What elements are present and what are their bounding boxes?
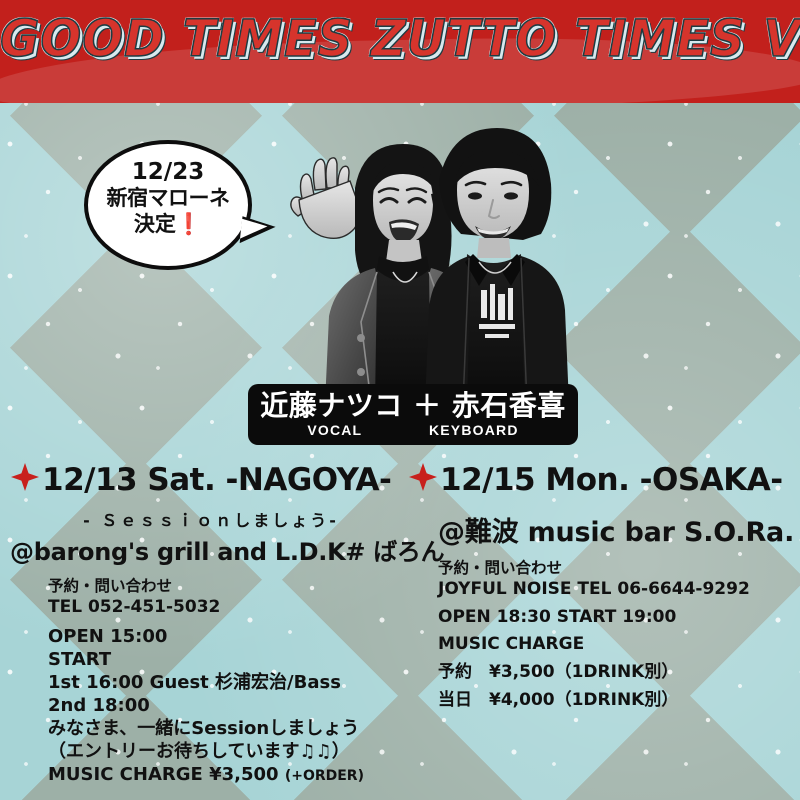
announcement-speech-bubble: 12/23 新宿マローネ 決定❗	[84, 140, 252, 270]
bubble-status-text: 決定	[134, 212, 176, 236]
poster-canvas: GOOD TIMES ZUTTO TIMES VOL.14	[0, 0, 800, 800]
artist-nameplate: 近藤ナツコ ＋ 赤石香喜 VOCAL KEYBOARD	[248, 384, 578, 445]
spacer	[408, 549, 798, 559]
nagoya-session-label: - Ｓｅｓｓｉｏｎしましょう-	[10, 507, 412, 531]
osaka-headline-text: 12/15 Mon. -OSAKA-	[440, 465, 783, 496]
nagoya-charge-note: (+ORDER)	[285, 768, 364, 784]
osaka-tel: JOYFUL NOISE TEL 06-6644-9292	[438, 579, 798, 601]
nagoya-set-1: 1st 16:00 Guest 杉浦宏治/Bass	[48, 671, 412, 694]
role-keyboard: KEYBOARD	[429, 422, 519, 438]
nagoya-headline-text: 12/13 Sat. -NAGOYA-	[42, 465, 391, 496]
bubble-date: 12/23	[88, 158, 248, 186]
header-banner: GOOD TIMES ZUTTO TIMES VOL.14	[0, 0, 800, 103]
nagoya-headline: 12/13 Sat. -NAGOYA-	[10, 462, 412, 498]
nagoya-note-1: みなさま、一緒にSessionしましょう	[48, 717, 412, 740]
nagoya-open: OPEN 15:00	[48, 625, 412, 648]
osaka-venue: @難波 music bar S.O.Ra.	[408, 510, 798, 549]
osaka-charge-label: MUSIC CHARGE	[438, 634, 798, 656]
osaka-advance-price: 予約 ¥3,500（1DRINK別）	[438, 662, 798, 684]
sparkle-icon	[10, 462, 40, 498]
nagoya-note-2: （エントリーお待ちしています♫♫）	[48, 740, 412, 763]
show-block-osaka: 12/15 Mon. -OSAKA- @難波 music bar S.O.Ra.…	[408, 462, 798, 712]
nagoya-tel: TEL 052-451-5032	[48, 597, 412, 619]
osaka-details: 予約・問い合わせ JOYFUL NOISE TEL 06-6644-9292 O…	[408, 559, 798, 712]
show-block-nagoya: 12/13 Sat. -NAGOYA- - Ｓｅｓｓｉｏｎしましょう- @bar…	[10, 462, 412, 786]
nagoya-set-2: 2nd 18:00	[48, 694, 412, 717]
osaka-headline: 12/15 Mon. -OSAKA-	[408, 462, 798, 498]
nagoya-venue: @barong's grill and L.D.K# ばろん	[10, 532, 412, 567]
artist-names: 近藤ナツコ ＋ 赤石香喜	[256, 390, 570, 421]
artist-photo	[243, 104, 583, 404]
exclamation-icon: ❗	[176, 212, 202, 236]
nagoya-contact-label: 予約・問い合わせ	[48, 577, 412, 597]
sparkle-icon	[408, 462, 438, 498]
bubble-tail-fill	[240, 219, 268, 242]
nagoya-charge-text: MUSIC CHARGE ¥3,500	[48, 764, 279, 785]
spacer	[10, 567, 412, 577]
osaka-contact-label: 予約・問い合わせ	[438, 559, 798, 579]
role-vocal: VOCAL	[307, 422, 362, 438]
nagoya-music-charge: MUSIC CHARGE ¥3,500 (+ORDER)	[48, 763, 412, 786]
artist-roles: VOCAL KEYBOARD	[256, 422, 570, 438]
bubble-venue: 新宿マローネ	[88, 186, 248, 212]
nagoya-start-label: START	[48, 648, 412, 671]
page-title: GOOD TIMES ZUTTO TIMES VOL.14	[0, 10, 800, 69]
osaka-door-price: 当日 ¥4,000（1DRINK別）	[438, 690, 798, 712]
nagoya-details: 予約・問い合わせ TEL 052-451-5032 OPEN 15:00 STA…	[10, 577, 412, 786]
bubble-status: 決定❗	[88, 212, 248, 238]
osaka-open-start: OPEN 18:30 START 19:00	[438, 607, 798, 629]
